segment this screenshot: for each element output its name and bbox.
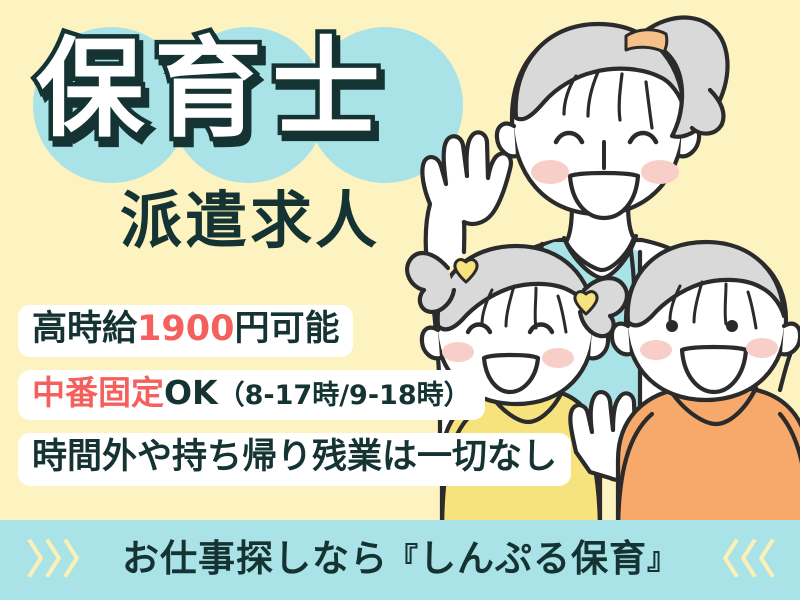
bullet-wage-part-1: 高時給 [32, 309, 137, 349]
footer-open-bracket: 『 [388, 542, 419, 577]
bullet-wage: 高時給1900円可能 [18, 305, 353, 357]
bullet-overtime: 時間外や持ち帰り残業は一切なし [18, 433, 571, 485]
feature-list: 高時給1900円可能 中番固定OK（8-17時/9-18時） 時間外や持ち帰り残… [18, 305, 571, 499]
chevron-left-icon: 〈〈〈 [700, 540, 774, 580]
footer-banner: 〉〉〉 お仕事探しなら『しんぷる保育』 〈〈〈 [0, 520, 800, 600]
list-item: 高時給1900円可能 [18, 305, 571, 370]
bullet-shift-hours: （8-17時/9-18時） [218, 380, 471, 411]
page-title-text: 保育士 [36, 27, 390, 152]
bullet-wage-part-3: 円可能 [234, 309, 339, 349]
footer-banner-text: お仕事探しなら『しんぷる保育』 [122, 540, 678, 581]
bullet-shift-highlight: 中番固定 [32, 373, 164, 412]
bullet-wage-amount: 1900 [137, 309, 234, 349]
page-subtitle: 派遣求人 [120, 190, 380, 252]
poster-root: 保育士 保育士 派遣求人 高時給1900円可能 中番固定OK（8-17時/9-1… [0, 0, 800, 600]
page-title: 保育士 保育士 [36, 36, 390, 144]
bullet-overtime-text: 時間外や持ち帰り残業は一切なし [32, 437, 557, 477]
footer-text-before: お仕事探しなら [122, 537, 388, 580]
bullet-shift-ok: OK [164, 373, 218, 412]
list-item: 時間外や持ち帰り残業は一切なし [18, 433, 571, 498]
list-item: 中番固定OK（8-17時/9-18時） [18, 370, 571, 433]
footer-brand: しんぷる保育 [419, 537, 647, 580]
footer-close-bracket: 』 [647, 542, 678, 577]
bullet-shift: 中番固定OK（8-17時/9-18時） [18, 370, 485, 420]
chevron-right-icon: 〉〉〉 [26, 540, 100, 580]
